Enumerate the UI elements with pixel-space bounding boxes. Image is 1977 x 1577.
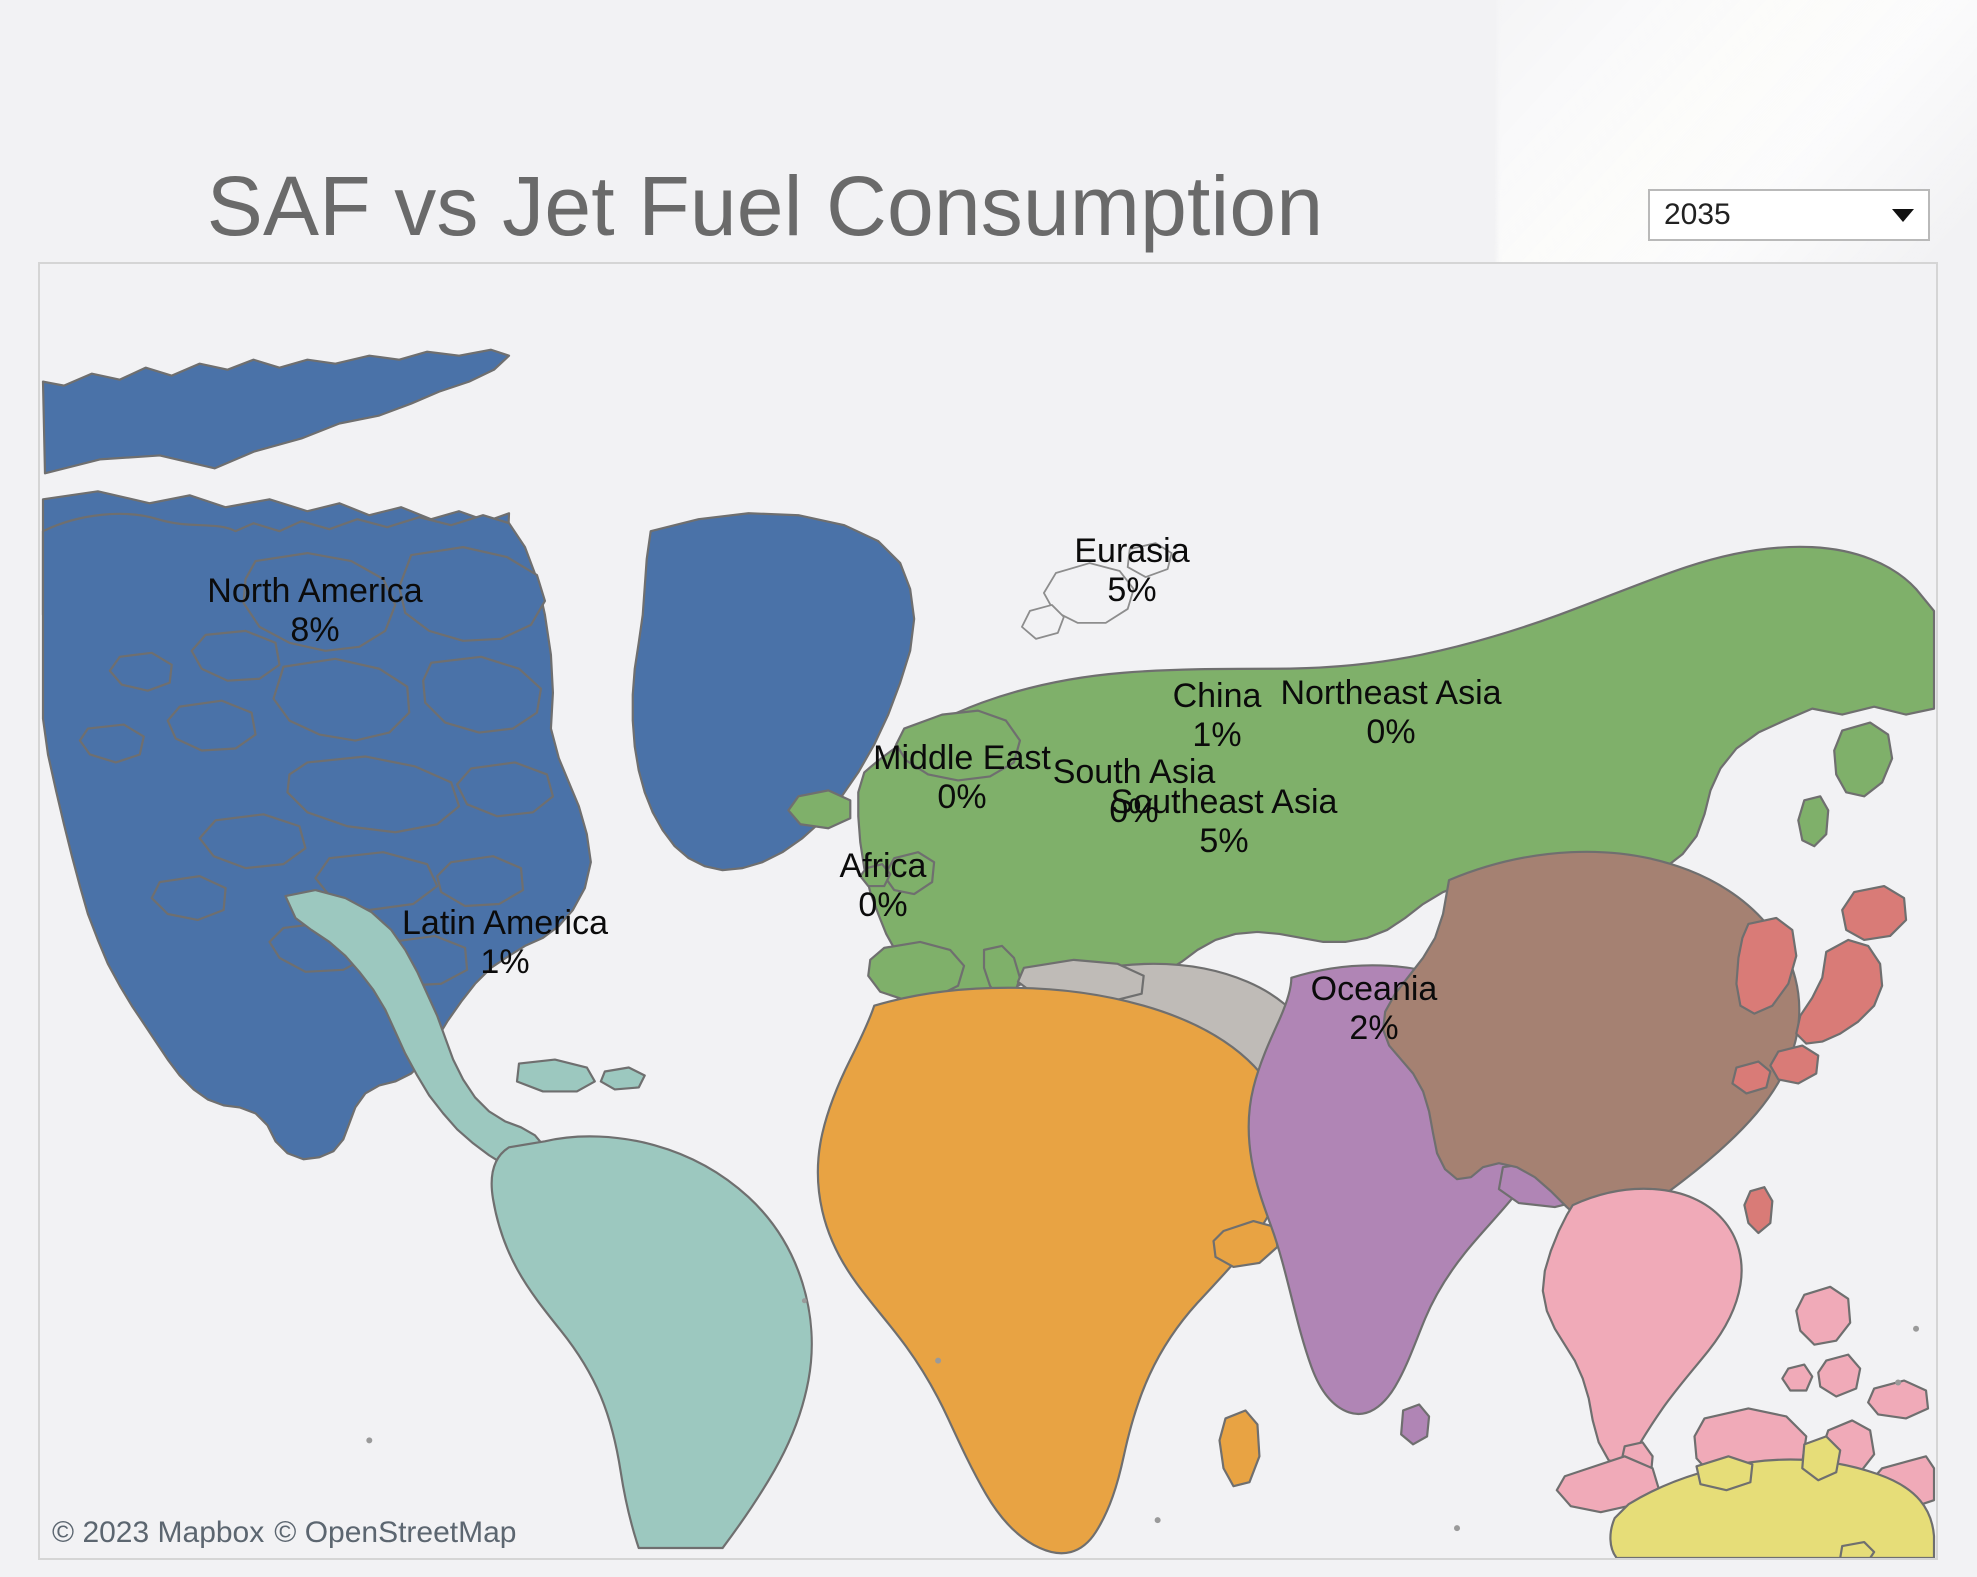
map-vector-layer bbox=[40, 264, 1936, 1558]
region-shape-africa bbox=[818, 988, 1288, 1553]
year-dropdown[interactable]: 2035 bbox=[1648, 189, 1930, 241]
corner-glare-artifact bbox=[1497, 0, 1977, 300]
osm-attribution[interactable]: © OpenStreetMap bbox=[274, 1516, 516, 1549]
region-shape-uncolored-land bbox=[1022, 543, 1172, 639]
map-attribution: © 2023 Mapbox© OpenStreetMap bbox=[52, 1516, 516, 1550]
world-map[interactable]: North America 8% Latin America 1% Eurasi… bbox=[38, 262, 1938, 1560]
year-dropdown-value: 2035 bbox=[1664, 198, 1892, 232]
page-title: SAF vs Jet Fuel Consumption bbox=[0, 164, 1530, 248]
region-shape-north-america bbox=[43, 350, 914, 1159]
mapbox-attribution[interactable]: © 2023 Mapbox bbox=[52, 1516, 264, 1549]
chevron-down-icon bbox=[1892, 209, 1914, 222]
